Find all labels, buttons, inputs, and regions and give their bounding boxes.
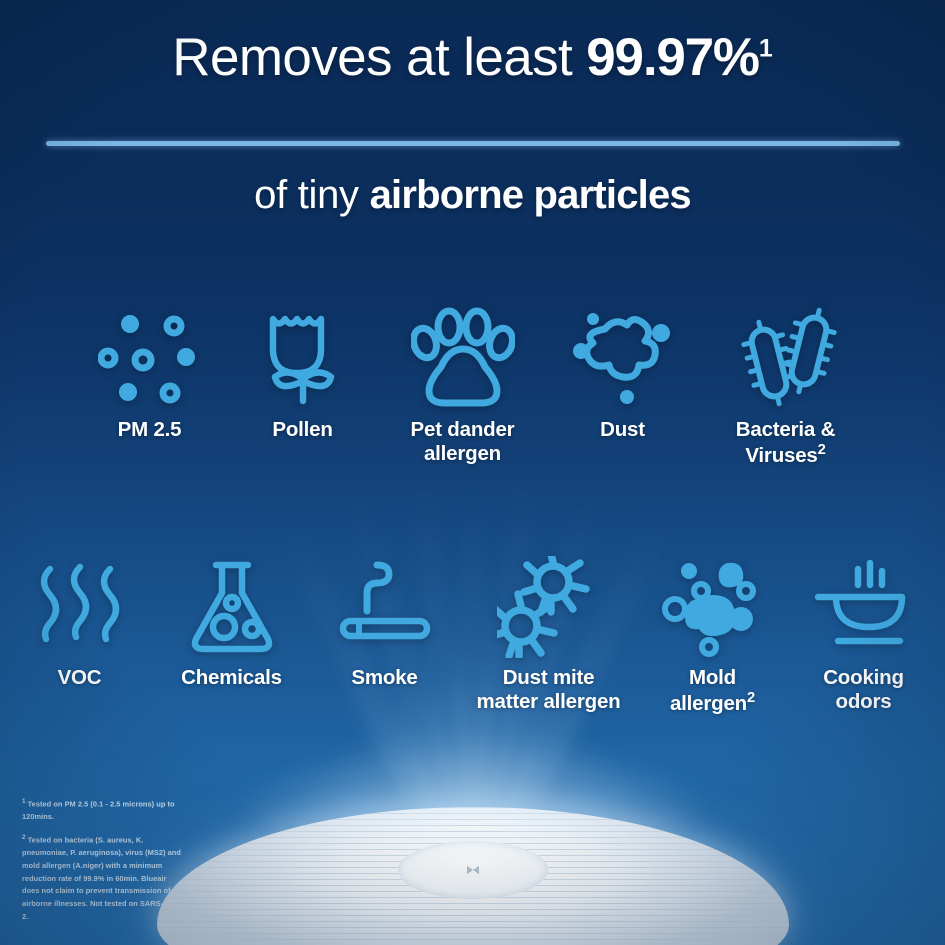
footnote-1: 1 Tested on PM 2.5 (0.1 - 2.5 microns) u… — [22, 797, 182, 824]
pm25-dots-icon — [98, 296, 202, 418]
dust-blob-icon — [571, 296, 675, 418]
particle-item-smoke: Smoke — [310, 548, 460, 690]
footnote-1-text: Tested on PM 2.5 (0.1 - 2.5 microns) up … — [22, 799, 175, 821]
particle-item-pollen: Pollen — [228, 296, 378, 442]
particles-row-2: VOC Chemicals — [0, 548, 945, 716]
pet-dander-paw-icon — [411, 296, 515, 418]
infographic-canvas: Removes at least 99.97%1 of tiny airborn… — [0, 0, 945, 945]
particle-label: Dust — [600, 418, 645, 442]
particle-label: Chemicals — [181, 666, 282, 690]
mold-allergen-icon — [661, 548, 765, 666]
smoke-cigarette-icon — [337, 548, 433, 666]
chemicals-flask-icon — [186, 548, 278, 666]
footnote-1-marker: 1 — [22, 798, 26, 805]
headline: Removes at least 99.97%1 — [0, 30, 945, 86]
particle-label: Pet dander allergen — [411, 418, 515, 466]
bacteria-viruses-icon — [731, 296, 841, 418]
particle-item-cooking-odors: Cooking odors — [788, 548, 940, 714]
headline-percentage: 99.97% — [586, 28, 759, 87]
particle-label: Cooking odors — [823, 666, 904, 714]
particle-item-chemicals: Chemicals — [154, 548, 310, 690]
headline-footnote-marker: 1 — [759, 34, 773, 62]
purifier-control-panel — [398, 841, 548, 899]
particle-item-dust: Dust — [548, 296, 698, 442]
particle-label: Dust mite matter allergen — [477, 666, 621, 714]
subheadline: of tiny airborne particles — [0, 173, 945, 218]
air-purifier-top — [157, 807, 789, 945]
dust-mite-icon — [497, 548, 601, 666]
footnote-2-marker: 2 — [22, 834, 26, 841]
cooking-odors-pan-icon — [812, 548, 916, 666]
footnote-2-text: Tested on bacteria (S. aureus, K. pneumo… — [22, 835, 181, 920]
particle-label: VOC — [58, 666, 102, 690]
subheadline-prefix: of tiny — [254, 173, 369, 217]
particle-label: Pollen — [272, 418, 332, 442]
particle-item-pm25: PM 2.5 — [72, 296, 228, 442]
header-divider — [46, 141, 900, 146]
particle-label-footnote-marker: 2 — [747, 690, 755, 706]
fan-icon — [465, 864, 481, 876]
particle-label-text: Mold allergen — [670, 666, 747, 715]
particle-item-dust-mite: Dust mite matter allergen — [460, 548, 638, 714]
particle-label: Bacteria & Viruses2 — [736, 418, 835, 468]
particle-label: PM 2.5 — [118, 418, 182, 442]
particles-row-1: PM 2.5 Pollen — [0, 296, 945, 468]
headline-prefix: Removes at least — [172, 28, 586, 87]
particle-label: Smoke — [351, 666, 417, 690]
subheadline-strong: airborne particles — [370, 173, 691, 217]
particle-item-bacteria-viruses: Bacteria & Viruses2 — [698, 296, 874, 468]
particle-item-voc: VOC — [6, 548, 154, 690]
particle-item-mold: Mold allergen2 — [638, 548, 788, 716]
particle-item-pet-dander: Pet dander allergen — [378, 296, 548, 466]
pollen-flower-icon — [260, 296, 346, 418]
particle-label: Mold allergen2 — [670, 666, 755, 716]
voc-waves-icon — [34, 548, 126, 666]
particle-label-footnote-marker: 2 — [818, 442, 826, 458]
